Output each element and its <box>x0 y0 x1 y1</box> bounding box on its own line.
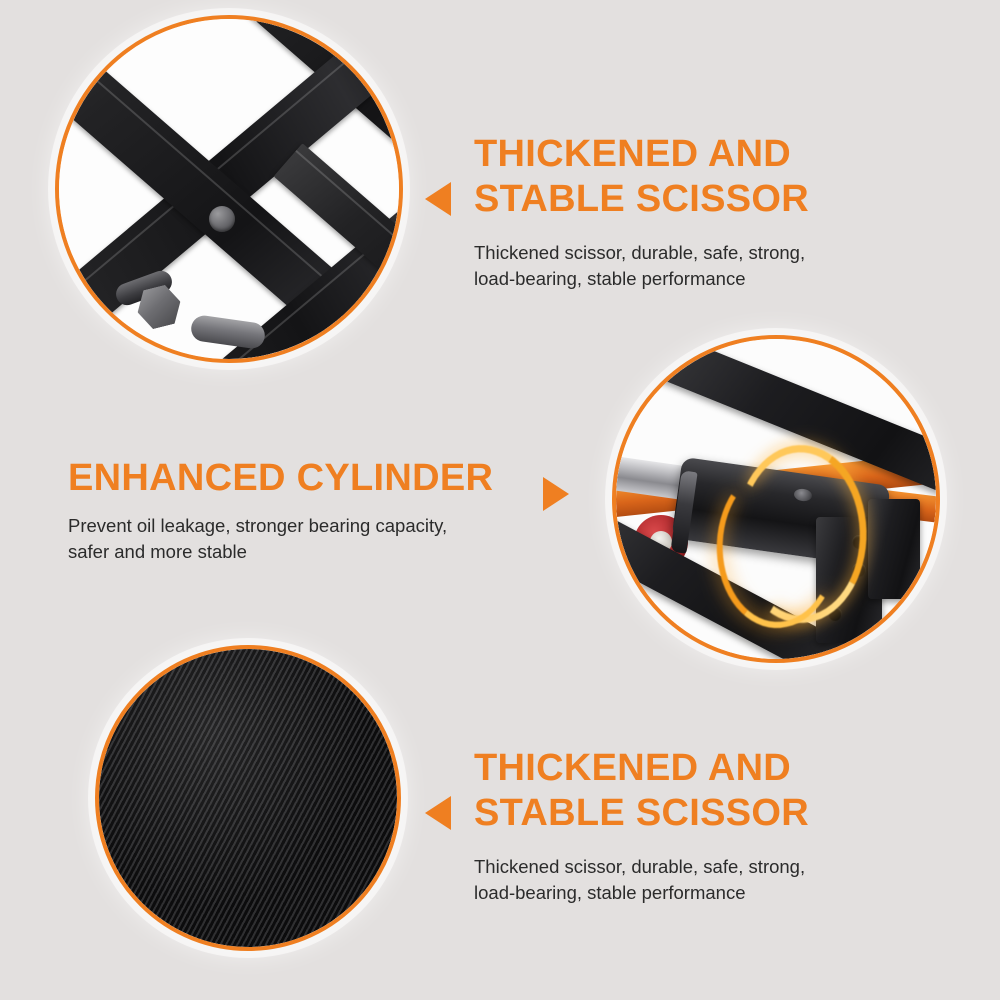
feature-body: Prevent oil leakage, stronger bearing ca… <box>68 513 528 565</box>
feature-body-line2: load-bearing, stable performance <box>474 268 746 289</box>
pointer-arrow-left-icon <box>425 182 451 216</box>
feature-block-thickened-scissor-bottom: THICKENED AND STABLE SCISSOR Thickened s… <box>474 746 874 906</box>
hydraulic-cylinder-photo <box>612 335 940 663</box>
product-feature-infographic: THICKENED AND STABLE SCISSOR Thickened s… <box>0 0 1000 1000</box>
pointer-arrow-right-icon <box>543 477 569 511</box>
pivot-rivet-icon <box>209 206 235 232</box>
feature-body-line2: safer and more stable <box>68 541 247 562</box>
feature-heading: ENHANCED CYLINDER <box>68 456 528 501</box>
feature-heading-line1: THICKENED AND <box>474 747 791 789</box>
feature-body-line1: Prevent oil leakage, stronger bearing ca… <box>68 515 447 536</box>
feature-body-line2: load-bearing, stable performance <box>474 882 746 903</box>
ribbed-deck-plate-photo <box>95 645 401 951</box>
feature-heading-line1: ENHANCED CYLINDER <box>68 457 493 499</box>
feature-block-thickened-scissor-top: THICKENED AND STABLE SCISSOR Thickened s… <box>474 132 874 292</box>
feature-heading: THICKENED AND STABLE SCISSOR <box>474 746 874 836</box>
photo-content <box>616 339 936 659</box>
feature-heading-line2: STABLE SCISSOR <box>474 178 809 220</box>
feature-body-line1: Thickened scissor, durable, safe, strong… <box>474 242 805 263</box>
feature-heading-line1: THICKENED AND <box>474 133 791 175</box>
feature-heading-line2: STABLE SCISSOR <box>474 792 809 834</box>
feature-body: Thickened scissor, durable, safe, strong… <box>474 854 874 906</box>
scissor-lift-lattice-photo <box>55 15 403 363</box>
feature-block-enhanced-cylinder: ENHANCED CYLINDER Prevent oil leakage, s… <box>68 456 528 565</box>
feature-body: Thickened scissor, durable, safe, strong… <box>474 240 874 292</box>
surface-sheen <box>99 649 397 947</box>
linkage-pin <box>190 314 267 350</box>
photo-content <box>99 649 397 947</box>
photo-content <box>59 19 399 359</box>
feature-body-line1: Thickened scissor, durable, safe, strong… <box>474 856 805 877</box>
mounting-bracket <box>868 499 920 599</box>
pointer-arrow-left-icon <box>425 796 451 830</box>
feature-heading: THICKENED AND STABLE SCISSOR <box>474 132 874 222</box>
